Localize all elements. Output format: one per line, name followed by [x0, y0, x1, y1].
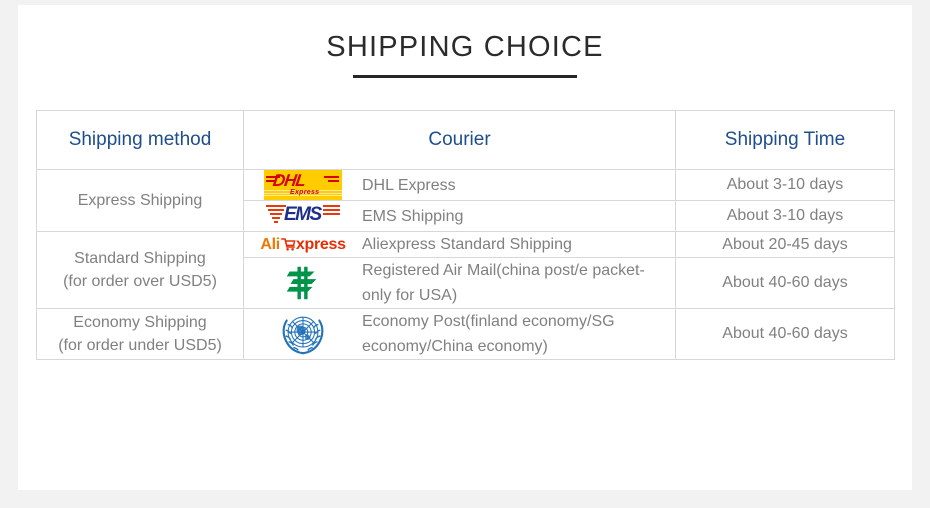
courier-cell-dhl: DHL Express DHL Express: [244, 170, 676, 201]
shipping-time: About 40-60 days: [676, 258, 895, 309]
courier-name: Economy Post(finland economy/SG economy/…: [362, 309, 675, 359]
shipping-time: About 3-10 days: [676, 201, 895, 232]
title-underline: [353, 75, 577, 78]
shipping-card: SHIPPING CHOICE Shipping method Courier …: [18, 5, 912, 490]
aliexpress-wordmark-ali: Ali: [260, 236, 280, 254]
courier-cell-ems: EMS EMS Shipping: [244, 201, 676, 232]
logo-box: Ali xpress: [244, 236, 362, 254]
courier-name: EMS Shipping: [362, 204, 475, 229]
table-header-row: Shipping method Courier Shipping Time: [37, 111, 895, 170]
courier-cell-china-post: Registered Air Mail(china post/e packet-…: [244, 258, 676, 309]
method-standard-shipping: Standard Shipping (for order over USD5): [37, 232, 244, 309]
logo-box: [244, 262, 362, 304]
logo-box: EMS: [244, 201, 362, 231]
logo-box: [244, 309, 362, 359]
shipping-table: Shipping method Courier Shipping Time Ex…: [36, 110, 895, 360]
method-economy-shipping: Economy Shipping (for order under USD5): [37, 309, 244, 360]
courier-cell-aliexpress: Ali xpress: [244, 232, 676, 258]
shopping-cart-icon: [281, 237, 296, 252]
page-title: SHIPPING CHOICE: [18, 30, 912, 64]
courier-name: Aliexpress Standard Shipping: [362, 232, 584, 257]
shipping-time: About 40-60 days: [676, 309, 895, 360]
ems-wordmark: EMS: [284, 204, 321, 226]
shipping-time: About 3-10 days: [676, 170, 895, 201]
dhl-wordmark: DHL: [272, 171, 307, 191]
aliexpress-logo: Ali xpress: [260, 236, 345, 254]
page-title-wrap: SHIPPING CHOICE: [18, 30, 912, 78]
courier-cell-economy-post: Economy Post(finland economy/SG economy/…: [244, 309, 676, 360]
dhl-sublabel: Express: [290, 189, 319, 196]
logo-box: DHL Express: [244, 170, 362, 200]
table-row: Express Shipping DHL Express: [37, 170, 895, 201]
dhl-logo: DHL Express: [264, 170, 342, 200]
ems-logo: EMS: [266, 201, 340, 231]
courier-name: Registered Air Mail(china post/e packet-…: [362, 258, 675, 308]
china-post-logo: [282, 262, 324, 304]
table-row: Standard Shipping (for order over USD5) …: [37, 232, 895, 258]
method-express-shipping: Express Shipping: [37, 170, 244, 232]
table-row: Economy Shipping (for order under USD5): [37, 309, 895, 360]
shipping-time: About 20-45 days: [676, 232, 895, 258]
courier-name: DHL Express: [362, 173, 468, 198]
header-shipping-time: Shipping Time: [676, 111, 895, 170]
header-courier: Courier: [244, 111, 676, 170]
un-emblem-logo: [278, 309, 328, 359]
aliexpress-wordmark-xpress: xpress: [296, 236, 346, 254]
header-shipping-method: Shipping method: [37, 111, 244, 170]
